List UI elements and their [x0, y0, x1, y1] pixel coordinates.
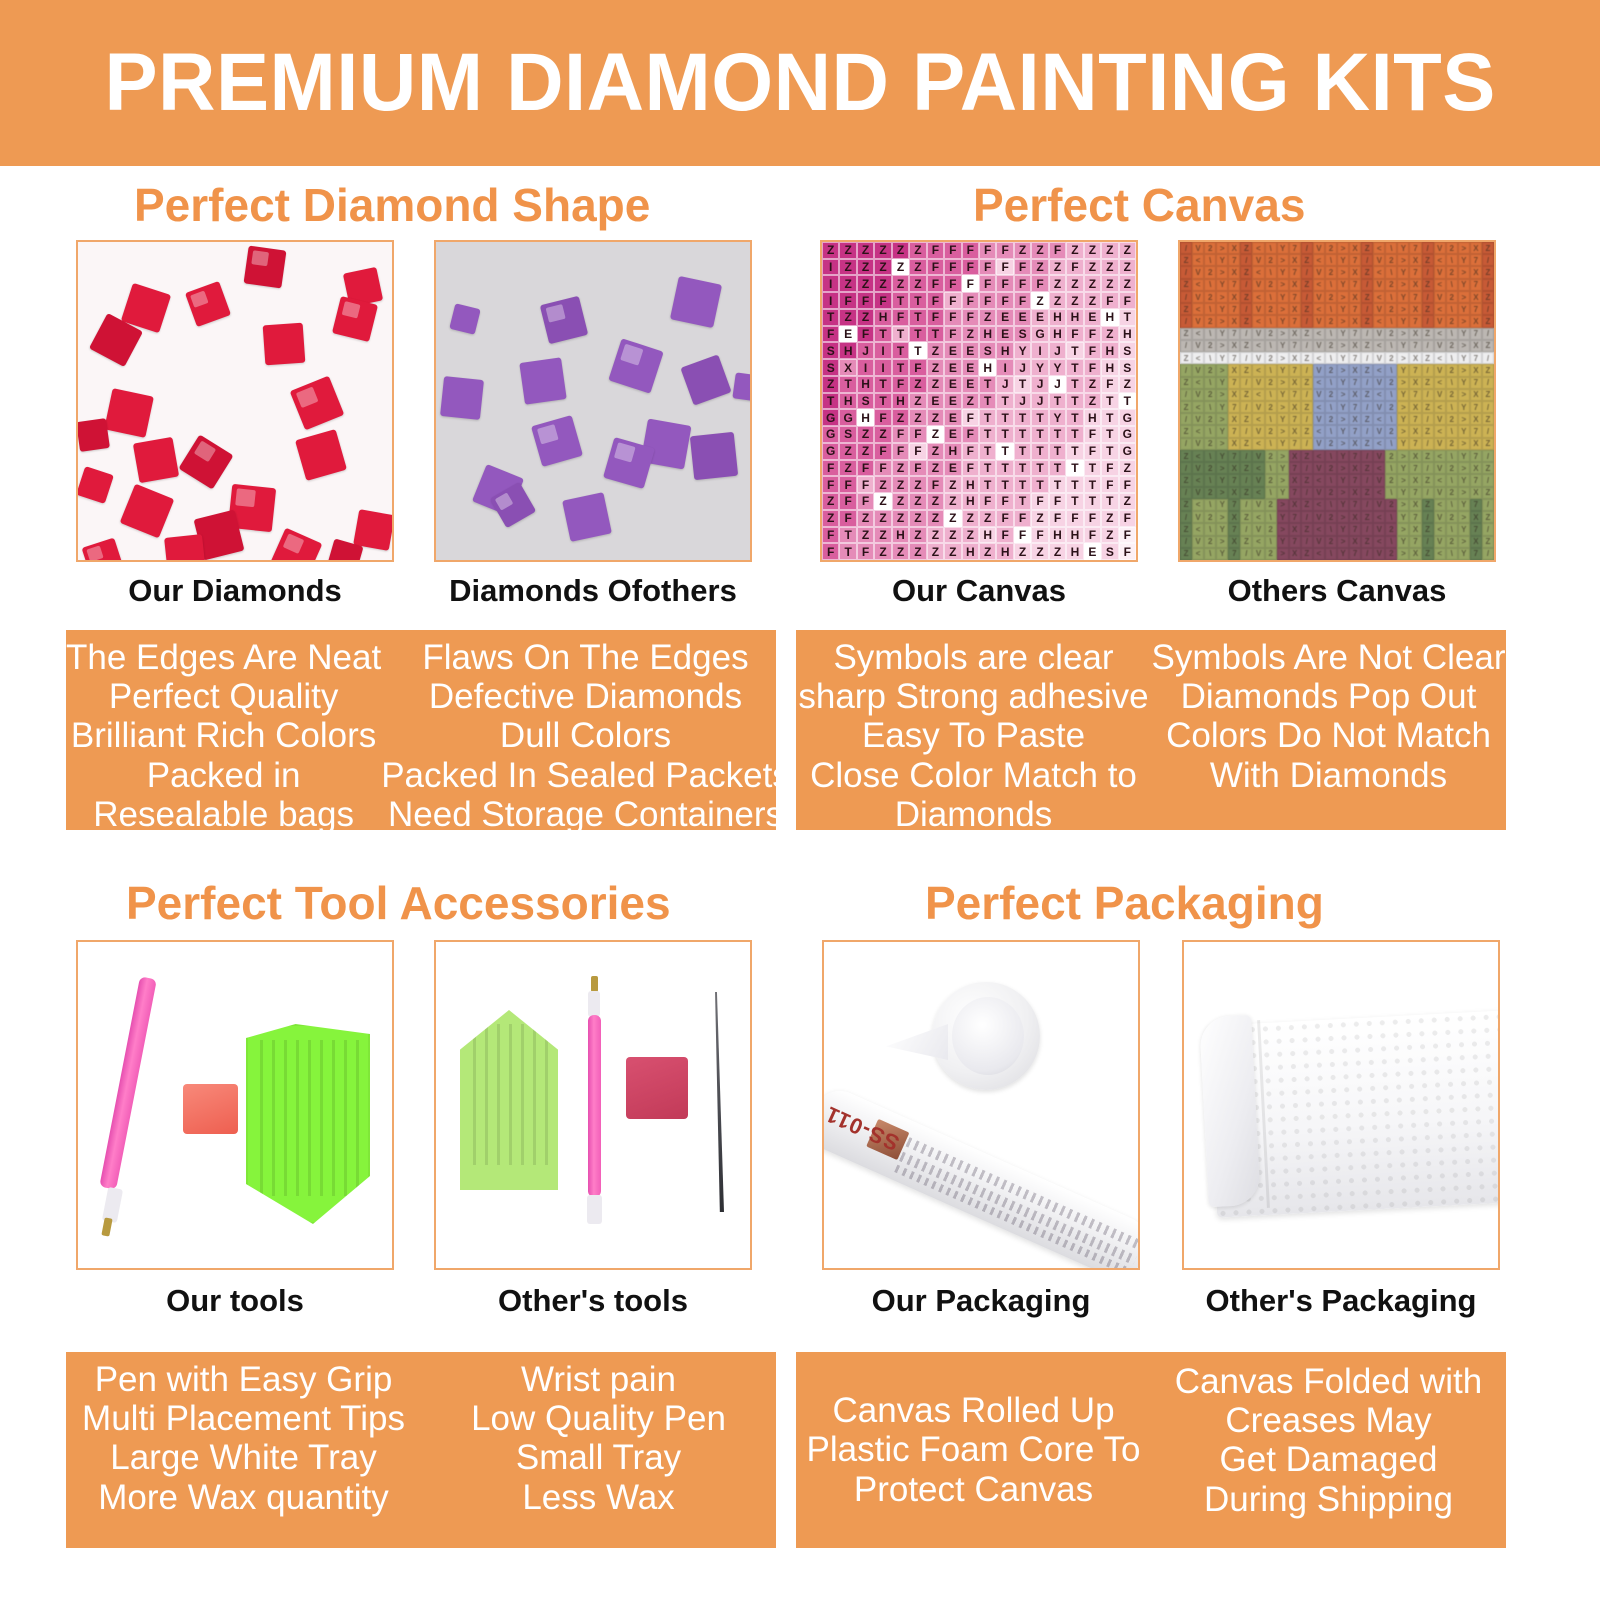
diamond-drill [680, 354, 731, 405]
symbol-cell: F [1101, 292, 1118, 309]
symbol-cell: T [1101, 409, 1118, 426]
symbol-cell: Z [1049, 275, 1066, 292]
wax-square-icon [183, 1084, 238, 1134]
symbol-cell: T [1014, 426, 1031, 443]
symbol-cell: E [839, 326, 856, 343]
pen-body-icon [99, 976, 157, 1189]
symbol-cell: Z [822, 493, 839, 510]
symbol-cell: I [822, 275, 839, 292]
symbol-cell: F [822, 527, 839, 544]
symbol-cell: S [839, 426, 856, 443]
symbol-cell: Z [1101, 527, 1118, 544]
our-tools-artwork [78, 942, 392, 1268]
symbol-cell: Z [874, 493, 891, 510]
symbol-cell: G [822, 426, 839, 443]
panel-line: Creases May [1225, 1401, 1431, 1440]
panel-line: Large White Tray [110, 1438, 377, 1477]
diamond-tray-icon [246, 1024, 370, 1224]
symbol-cell: Z [822, 376, 839, 393]
symbol-cell: S [1119, 359, 1136, 376]
drill-facet [87, 546, 105, 562]
symbol-cell: T [996, 443, 1013, 460]
panel-line: Need Storage Containers [388, 795, 783, 834]
caption-our-canvas: Our Canvas [820, 575, 1138, 606]
symbol-cell: F [909, 426, 926, 443]
symbol-cell: Z [839, 242, 856, 259]
symbol-cell: Z [909, 259, 926, 276]
symbol-cell: F [1101, 476, 1118, 493]
symbol-cell: F [996, 510, 1013, 527]
symbol-cell: F [927, 259, 944, 276]
pen-tip-icon [591, 976, 598, 992]
symbol-cell: S [1119, 342, 1136, 359]
symbol-cell: H [1049, 326, 1066, 343]
symbol-cell: I [996, 359, 1013, 376]
symbol-cell: Z [892, 476, 909, 493]
symbol-cell: T [1031, 443, 1048, 460]
small-tray-icon [460, 1010, 558, 1190]
symbol-cell: Z [1066, 275, 1083, 292]
symbol-cell: Z [909, 543, 926, 560]
symbol-cell: E [944, 460, 961, 477]
symbol-cell: Z [962, 393, 979, 410]
diamond-drill [670, 276, 722, 328]
caption-others-canvas: Others Canvas [1178, 575, 1496, 606]
symbol-cell: T [1014, 460, 1031, 477]
symbol-cell: T [909, 326, 926, 343]
diamond-drill [82, 538, 125, 562]
symbol-cell: F [927, 292, 944, 309]
drill-facet [190, 290, 209, 308]
symbol-cell: T [892, 292, 909, 309]
panel-line: Brilliant Rich Colors [71, 716, 376, 755]
symbol-cell: T [1066, 393, 1083, 410]
symbol-cell: Z [927, 426, 944, 443]
symbol-cell: Z [1119, 493, 1136, 510]
symbol-cell: H [874, 309, 891, 326]
symbol-cell: Z [1031, 259, 1048, 276]
symbol-cell: F [996, 275, 1013, 292]
symbol-cell: F [857, 543, 874, 560]
symbol-cell: T [892, 326, 909, 343]
symbol-cell: F [857, 493, 874, 510]
drill-facet [614, 442, 635, 462]
symbol-cell: I [822, 259, 839, 276]
symbol-cell: F [909, 359, 926, 376]
symbol-cell: E [1014, 309, 1031, 326]
symbol-cell: Z [944, 510, 961, 527]
drill-facet [296, 387, 318, 408]
symbol-cell: Y [1049, 359, 1066, 376]
symbol-cell: Z [874, 527, 891, 544]
symbol-cell: F [1084, 359, 1101, 376]
symbol-cell: S [822, 342, 839, 359]
symbol-cell: E [1084, 309, 1101, 326]
pen-body-icon [588, 1015, 601, 1197]
symbol-cell: Z [822, 510, 839, 527]
symbol-cell: Z [962, 527, 979, 544]
symbol-cell: F [857, 460, 874, 477]
symbol-cell: E [962, 376, 979, 393]
symbol-cell: H [1066, 543, 1083, 560]
symbol-cell: Z [1119, 275, 1136, 292]
symbol-cell: T [1066, 476, 1083, 493]
symbol-cell: Z [874, 476, 891, 493]
symbol-cell: Z [857, 426, 874, 443]
photo-other-diamonds [434, 240, 752, 562]
symbol-cell: I [1031, 342, 1048, 359]
panel-line: Dull Colors [500, 716, 671, 755]
symbol-cell: T [1049, 476, 1066, 493]
symbol-cell: T [892, 359, 909, 376]
symbol-cell: J [996, 376, 1013, 393]
symbol-cell: E [944, 359, 961, 376]
symbol-cell: J [1014, 393, 1031, 410]
caption-our-packaging: Our Packaging [822, 1285, 1140, 1316]
tray-ribs [253, 1040, 362, 1196]
symbol-cell: F [839, 493, 856, 510]
symbol-cell: H [979, 326, 996, 343]
panel-line: Symbols Are Not Clear [1151, 638, 1505, 677]
symbol-cell: H [1101, 359, 1118, 376]
symbol-cell: Z [892, 510, 909, 527]
caption-other-packaging: Other's Packaging [1182, 1285, 1500, 1316]
caption-our-tools: Our tools [76, 1285, 394, 1316]
symbol-cell: F [822, 460, 839, 477]
panel-line: More Wax quantity [98, 1478, 388, 1517]
symbol-cell: Z [962, 510, 979, 527]
symbol-cell: T [1084, 460, 1101, 477]
photo-our-diamonds [76, 240, 394, 562]
drill-facet [251, 250, 269, 267]
symbol-cell: F [1014, 275, 1031, 292]
symbol-cell: F [927, 309, 944, 326]
symbol-cell: F [857, 326, 874, 343]
symbol-cell: F [1119, 527, 1136, 544]
symbol-cell: T [1031, 476, 1048, 493]
symbol-cell: I [857, 359, 874, 376]
panel-line: Colors Do Not Match [1166, 716, 1491, 755]
symbol-cell: T [1084, 493, 1101, 510]
symbol-cell: E [944, 342, 961, 359]
symbol-cell: F [962, 242, 979, 259]
symbol-cell: T [874, 393, 891, 410]
symbol-cell: T [1049, 393, 1066, 410]
symbol-cell: Z [1119, 376, 1136, 393]
symbol-cell: F [822, 543, 839, 560]
other-packaging-artwork [1184, 942, 1498, 1268]
symbol-cell: T [1119, 393, 1136, 410]
caption-other-tools: Other's tools [434, 1285, 752, 1316]
symbol-cell: H [996, 342, 1013, 359]
symbol-cell: Z [1084, 393, 1101, 410]
diamond-drill [540, 296, 588, 344]
symbol-cell: F [874, 292, 891, 309]
symbol-cell: T [996, 460, 1013, 477]
symbol-cell: T [1066, 359, 1083, 376]
symbol-cell: H [996, 543, 1013, 560]
symbol-cell: S [857, 393, 874, 410]
symbol-cell: E [1084, 543, 1101, 560]
symbol-cell: H [962, 476, 979, 493]
symbol-cell: Z [927, 342, 944, 359]
symbol-cell: F [839, 510, 856, 527]
diamond-drill [133, 437, 179, 483]
symbol-cell: Z [944, 527, 961, 544]
symbol-cell: T [909, 342, 926, 359]
symbol-cell: Z [927, 376, 944, 393]
symbol-cell: Z [857, 259, 874, 276]
symbol-cell: F [927, 242, 944, 259]
symbol-cell: F [979, 259, 996, 276]
symbol-cell: Z [944, 543, 961, 560]
symbol-cell: Z [892, 259, 909, 276]
photo-other-tools [434, 940, 752, 1270]
symbol-cell: Z [1049, 543, 1066, 560]
mailer-flap-icon [1199, 1015, 1261, 1207]
symbol-cell: Z [874, 510, 891, 527]
symbol-cell: F [892, 426, 909, 443]
symbol-cell: F [909, 443, 926, 460]
panel-line: Protect Canvas [854, 1470, 1093, 1509]
symbol-cell: H [857, 409, 874, 426]
panel-line: Plastic Foam Core To [807, 1430, 1141, 1469]
symbol-cell: Z [874, 259, 891, 276]
symbol-cell: Z [1084, 376, 1101, 393]
symbol-cell: T [979, 393, 996, 410]
symbol-cell: T [1101, 393, 1118, 410]
panel-column-others: Canvas Folded with Creases May Get Damag… [1151, 1352, 1506, 1548]
symbol-cell: Z [1049, 292, 1066, 309]
section-heading-canvas: Perfect Canvas [973, 182, 1305, 228]
symbol-cell: T [1066, 493, 1083, 510]
symbol-cell: Z [1101, 510, 1118, 527]
symbol-cell: T [874, 326, 891, 343]
symbol-cell: H [1101, 342, 1118, 359]
symbol-cell: H [979, 359, 996, 376]
symbol-cell: G [822, 409, 839, 426]
symbol-cell: F [857, 476, 874, 493]
diamond-drill [531, 415, 583, 467]
symbol-cell: F [979, 275, 996, 292]
symbol-cell: Z [927, 409, 944, 426]
symbol-cell: F [944, 309, 961, 326]
symbol-cell: F [874, 460, 891, 477]
diamond-drill [76, 418, 110, 452]
symbol-cell: Z [1031, 292, 1048, 309]
symbol-cell: Y [1049, 409, 1066, 426]
symbol-cell: Z [892, 409, 909, 426]
drill-facet [235, 489, 255, 508]
panel-column-ours: The Edges Are Neat Perfect Quality Brill… [66, 630, 381, 830]
symbol-cell: F [1049, 510, 1066, 527]
symbol-cell: Z [822, 242, 839, 259]
symbol-cell: H [857, 376, 874, 393]
header-banner: PREMIUM DIAMOND PAINTING KITS [0, 0, 1600, 166]
other-diamonds-artwork [436, 242, 750, 560]
symbol-cell: Z [962, 326, 979, 343]
symbol-cell: F [1031, 493, 1048, 510]
symbol-cell: E [927, 393, 944, 410]
symbol-cell: H [1066, 527, 1083, 544]
symbol-cell: T [874, 376, 891, 393]
symbol-cell: Z [1101, 259, 1118, 276]
symbol-cell: H [1119, 326, 1136, 343]
symbol-cell: T [979, 426, 996, 443]
pen-tip-icon [101, 1217, 112, 1236]
symbol-cell: T [979, 443, 996, 460]
symbol-cell: Z [857, 309, 874, 326]
photo-our-packaging: SS-011 [822, 940, 1140, 1270]
symbol-cell: Z [944, 476, 961, 493]
diamond-drill [290, 376, 345, 431]
symbol-cell: T [909, 292, 926, 309]
symbol-cell: J [1031, 376, 1048, 393]
diamond-drill [449, 303, 481, 335]
symbol-cell: S [1014, 326, 1031, 343]
panel-line: Small Tray [516, 1438, 681, 1477]
symbol-cell: Z [927, 510, 944, 527]
symbol-cell: Z [1084, 259, 1101, 276]
panel-line: Wrist pain [521, 1360, 676, 1399]
drill-facet [282, 533, 304, 554]
panel-line: Easy To Paste [862, 716, 1085, 755]
infographic-page: PREMIUM DIAMOND PAINTING KITS Perfect Di… [0, 0, 1600, 1600]
symbol-cell: F [962, 409, 979, 426]
symbol-cell: F [857, 292, 874, 309]
symbol-cell: J [1049, 376, 1066, 393]
symbol-cell: F [1101, 460, 1118, 477]
symbol-cell: T [839, 527, 856, 544]
tube-print-band [894, 1165, 1131, 1270]
symbol-cell: T [1101, 443, 1118, 460]
symbol-cell: Z [874, 275, 891, 292]
symbol-cell: T [1066, 443, 1083, 460]
symbol-cell: H [1049, 309, 1066, 326]
symbol-cell: Z [857, 510, 874, 527]
text-panel-diamond-shape: The Edges Are Neat Perfect Quality Brill… [66, 630, 776, 830]
symbol-cell: Z [892, 493, 909, 510]
symbol-cell: F [1014, 259, 1031, 276]
drill-facet [620, 344, 643, 366]
symbol-cell: Z [874, 242, 891, 259]
symbol-cell: Z [909, 242, 926, 259]
symbol-cell: E [944, 393, 961, 410]
symbol-cell: F [1119, 292, 1136, 309]
section-heading-packaging: Perfect Packaging [925, 880, 1324, 926]
symbol-cell: G [1119, 443, 1136, 460]
symbol-cell: F [962, 259, 979, 276]
others-canvas-artwork: /V2>XZ<\Y7/V2>XZ<\Y7/V2>XZZ<\Y7/V2>XZ<\Y… [1180, 242, 1494, 560]
drill-facet [545, 304, 565, 323]
diamond-drill [519, 357, 566, 404]
symbol-cell: Z [839, 259, 856, 276]
symbol-cell: G [839, 409, 856, 426]
symbol-cell: F [979, 493, 996, 510]
photo-other-packaging [1182, 940, 1500, 1270]
panel-line: Close Color Match to [810, 756, 1137, 795]
diamond-drill [295, 429, 347, 481]
symbol-cell: H [1084, 409, 1101, 426]
symbol-cell: Z [909, 510, 926, 527]
symbol-cell: F [1014, 510, 1031, 527]
symbol-cell: Z [1066, 242, 1083, 259]
symbol-cell: F [962, 426, 979, 443]
panel-line: sharp Strong adhesive [798, 677, 1148, 716]
panel-line: With Diamonds [1210, 756, 1447, 795]
symbol-cell: H [979, 527, 996, 544]
symbol-cell: H [962, 493, 979, 510]
symbol-cell: T [1084, 476, 1101, 493]
panel-column-others: Symbols Are Not Clear Diamonds Pop Out C… [1151, 630, 1506, 830]
symbol-cell: T [996, 426, 1013, 443]
diamond-drill [332, 296, 378, 342]
symbol-cell: F [944, 242, 961, 259]
symbol-cell: T [1066, 460, 1083, 477]
section-heading-tool-accessories: Perfect Tool Accessories [126, 880, 671, 926]
symbol-cell: H [1066, 309, 1083, 326]
symbol-cell: F [944, 326, 961, 343]
page-title: PREMIUM DIAMOND PAINTING KITS [104, 42, 1495, 124]
diamond-drill [440, 376, 484, 420]
symbol-cell: Z [839, 309, 856, 326]
panel-line: Diamonds Pop Out [1181, 677, 1477, 716]
symbol-cell: Z [1119, 460, 1136, 477]
symbol-cell: T [927, 326, 944, 343]
symbol-cell: T [909, 309, 926, 326]
symbol-cell: F [1014, 292, 1031, 309]
panel-line: The Edges Are Neat [66, 638, 381, 677]
symbol-cell: Z [909, 275, 926, 292]
symbol-cell: Z [839, 443, 856, 460]
tube-print-band [892, 1149, 1137, 1266]
panel-line: Multi Placement Tips [82, 1399, 405, 1438]
symbol-cell: Z [1014, 543, 1031, 560]
symbol-cell: Z [927, 527, 944, 544]
symbol-cell: F [1031, 527, 1048, 544]
symbol-cell: H [962, 543, 979, 560]
symbol-cell: F [1084, 426, 1101, 443]
symbol-cell: F [1084, 527, 1101, 544]
symbol-cell: Z [909, 493, 926, 510]
symbol-cell: T [979, 376, 996, 393]
symbol-cell: F [962, 275, 979, 292]
symbol-cell: J [857, 342, 874, 359]
symbol-cell: T [1031, 409, 1048, 426]
tube-endcap-tab [886, 1024, 948, 1060]
symbol-cell: Z [1101, 242, 1118, 259]
canvas-tube-icon: SS-011 [822, 1083, 1140, 1270]
symbol-cell: Z [1014, 242, 1031, 259]
diamond-drill [164, 534, 206, 562]
symbol-cell: T [1066, 426, 1083, 443]
symbol-cell: Y [1014, 342, 1031, 359]
symbol-cell: F [1049, 493, 1066, 510]
symbol-cell: H [944, 443, 961, 460]
symbol-cell: F [874, 443, 891, 460]
symbol-cell: F [1066, 259, 1083, 276]
symbol-cell: T [822, 393, 839, 410]
symbol-cell: Z [1031, 543, 1048, 560]
diamond-drill [263, 323, 306, 366]
canvas-symbol-grid: ZZZZZZFFFFFZZFZZZZIZZZZZFFFFFFZZFZZZIZZZ… [822, 242, 1136, 560]
symbol-cell: T [1014, 443, 1031, 460]
symbol-cell: E [996, 326, 1013, 343]
symbol-cell: Z [1119, 242, 1136, 259]
symbol-cell: F [839, 292, 856, 309]
symbol-cell: T [979, 409, 996, 426]
tube-label: SS-011 [822, 1100, 903, 1156]
